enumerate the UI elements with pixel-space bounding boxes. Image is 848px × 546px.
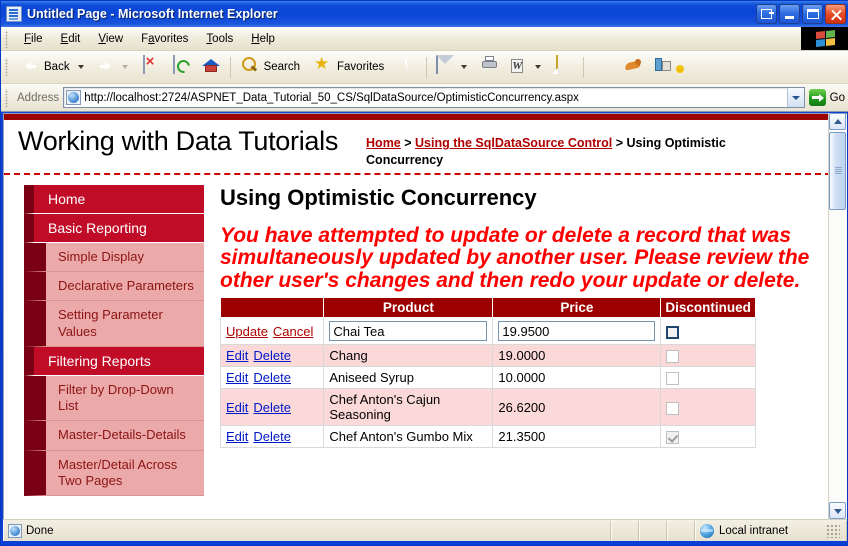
menu-bar: File Edit View Favorites Tools Help (1, 27, 848, 51)
column-header-discontinued: Discontinued (661, 298, 756, 318)
sidebar-item-filter-by-drop-down-list[interactable]: Filter by Drop-Down List (24, 376, 204, 422)
status-message-pane: Done (3, 521, 611, 541)
scroll-down-button[interactable] (829, 502, 846, 519)
menu-edit[interactable]: Edit (52, 30, 90, 48)
restore-button[interactable] (756, 4, 777, 24)
update-link[interactable]: Update (226, 324, 268, 339)
browser-toolbar: Back Search ★ Favorites (1, 51, 848, 84)
cell-product: Chef Anton's Gumbo Mix (324, 426, 493, 448)
research-button[interactable] (648, 53, 678, 81)
resize-grip[interactable] (826, 524, 840, 538)
cell-price: 10.0000 (493, 367, 661, 389)
sidebar-item-home[interactable]: Home (24, 185, 204, 214)
vertical-scrollbar[interactable] (828, 113, 845, 519)
discontinued-checkbox-readonly (666, 402, 679, 415)
page-viewport: Working with Data Tutorials Home > Using… (3, 113, 847, 519)
sidebar-item-master-details-details[interactable]: Master-Details-Details (24, 421, 204, 450)
menu-favorites[interactable]: Favorites (132, 30, 197, 48)
web-page: Working with Data Tutorials Home > Using… (4, 114, 831, 519)
status-pane-1 (611, 521, 639, 541)
firefox-button[interactable] (618, 53, 648, 81)
breadcrumb-home[interactable]: Home (366, 136, 401, 150)
discontinued-checkbox[interactable] (666, 326, 679, 339)
page-title: Using Optimistic Concurrency (220, 185, 819, 211)
discontinued-checkbox-readonly (666, 372, 679, 385)
status-pane-2 (639, 521, 667, 541)
cell-product (324, 318, 493, 345)
edit-link[interactable]: Edit (226, 370, 248, 385)
row-commands: EditDelete (221, 367, 324, 389)
address-input[interactable]: http://localhost:2724/ASPNET_Data_Tutori… (63, 87, 804, 108)
column-header-price: Price (493, 298, 661, 318)
site-title: Working with Data Tutorials (18, 126, 338, 157)
row-commands: EditDelete (221, 389, 324, 426)
print-icon (479, 56, 501, 78)
forward-dropdown-icon (122, 65, 128, 69)
edit-link[interactable]: Edit (226, 348, 248, 363)
status-pane-3 (667, 521, 695, 541)
home-icon (200, 56, 222, 78)
delete-link[interactable]: Delete (253, 348, 291, 363)
cell-discontinued (661, 367, 756, 389)
cell-price: 21.3500 (493, 426, 661, 448)
page-body: Home Basic Reporting Simple Display Decl… (4, 175, 831, 496)
breadcrumb-sep-1: > (401, 136, 415, 150)
breadcrumb: Home > Using the SqlDataSource Control >… (366, 135, 726, 169)
menu-help[interactable]: Help (242, 30, 284, 48)
cell-product: Chef Anton's Cajun Seasoning (324, 389, 493, 426)
products-gridview: Product Price Discontinued UpdateCancel (220, 297, 756, 448)
main-content: Using Optimistic Concurrency You have at… (204, 185, 831, 496)
breadcrumb-sep-2: > (612, 136, 626, 150)
sidebar-item-filtering-reports[interactable]: Filtering Reports (24, 347, 204, 376)
product-name-input[interactable] (329, 321, 487, 341)
cell-product: Chang (324, 345, 493, 367)
title-bar: Untitled Page - Microsoft Internet Explo… (1, 1, 848, 27)
table-header-row: Product Price Discontinued (221, 298, 756, 318)
cell-price: 26.6200 (493, 389, 661, 426)
forward-button (92, 53, 136, 81)
mail-button[interactable] (431, 53, 475, 81)
back-icon (19, 56, 41, 78)
history-button[interactable] (392, 53, 422, 81)
cell-product: Aniseed Syrup (324, 367, 493, 389)
globe-icon (700, 524, 714, 538)
menu-grip-handle[interactable] (4, 30, 13, 48)
table-row: EditDelete Chef Anton's Gumbo Mix 21.350… (221, 426, 756, 448)
edit-link[interactable]: Edit (226, 400, 248, 415)
history-icon (396, 56, 418, 78)
ie-page-icon (66, 90, 81, 105)
scrollbar-thumb[interactable] (829, 132, 846, 210)
cell-discontinued (661, 345, 756, 367)
back-dropdown-icon[interactable] (78, 65, 84, 69)
table-row: EditDelete Chang 19.0000 (221, 345, 756, 367)
encoding-button[interactable] (678, 53, 708, 81)
firefox-icon (622, 56, 644, 78)
table-row: EditDelete Aniseed Syrup 10.0000 (221, 367, 756, 389)
security-zone-pane[interactable]: Local intranet (695, 521, 847, 541)
window-title: Untitled Page - Microsoft Internet Explo… (27, 7, 278, 21)
edit-link[interactable]: Edit (226, 429, 248, 444)
search-icon (239, 56, 261, 78)
address-url-text: http://localhost:2724/ASPNET_Data_Tutori… (84, 92, 786, 104)
toolbar-separator-3 (583, 57, 584, 78)
research-icon (652, 56, 674, 78)
stop-button[interactable] (136, 53, 166, 81)
maximize-button[interactable] (802, 4, 823, 24)
column-header-commands (221, 298, 324, 318)
back-label: Back (44, 61, 70, 73)
row-commands: EditDelete (221, 426, 324, 448)
edit-button[interactable]: W (505, 53, 549, 81)
cell-price: 19.0000 (493, 345, 661, 367)
ie-status-icon (8, 524, 22, 538)
address-bar: Address http://localhost:2724/ASPNET_Dat… (1, 84, 848, 112)
cell-discontinued (661, 318, 756, 345)
favorites-label: Favorites (337, 61, 384, 73)
sidebar-nav: Home Basic Reporting Simple Display Decl… (4, 185, 204, 496)
scroll-up-button[interactable] (829, 113, 846, 130)
refresh-icon (170, 56, 192, 78)
toolbar-grip-handle[interactable] (4, 58, 13, 76)
messenger-button[interactable] (588, 53, 618, 81)
mail-icon (435, 56, 457, 78)
encoding-icon (682, 56, 704, 78)
table-row: UpdateCancel (221, 318, 756, 345)
chevron-down-icon[interactable] (787, 88, 804, 107)
favorites-star-icon: ★ (312, 56, 334, 78)
mail-dropdown-icon[interactable] (461, 65, 467, 69)
sidebar-item-simple-display[interactable]: Simple Display (24, 243, 204, 272)
toolbar-separator (230, 57, 231, 78)
row-commands: UpdateCancel (221, 318, 324, 345)
windows-flag-logo (801, 27, 848, 50)
sidebar-item-master-detail-across-two-pages[interactable]: Master/Detail Across Two Pages (24, 451, 204, 497)
edit-word-icon: W (509, 56, 531, 78)
address-label: Address (17, 92, 59, 104)
address-grip-handle[interactable] (4, 89, 13, 107)
page-header: Working with Data Tutorials Home > Using… (4, 120, 831, 175)
menu-file[interactable]: File (15, 30, 52, 48)
toolbar-separator-2 (426, 57, 427, 78)
concurrency-warning-message: You have attempted to update or delete a… (220, 225, 819, 292)
window-controls (756, 4, 846, 24)
print-button[interactable] (475, 53, 505, 81)
breadcrumb-section[interactable]: Using the SqlDataSource Control (415, 136, 612, 150)
sidebar-item-setting-parameter-values[interactable]: Setting Parameter Values (24, 301, 204, 347)
stop-icon (140, 56, 162, 78)
back-button[interactable]: Back (15, 53, 92, 81)
sidebar-item-basic-reporting[interactable]: Basic Reporting (24, 214, 204, 243)
delete-link[interactable]: Delete (253, 429, 291, 444)
price-input[interactable] (498, 321, 655, 341)
menu-view[interactable]: View (89, 30, 132, 48)
notes-button[interactable] (549, 53, 579, 81)
security-zone-text: Local intranet (719, 525, 788, 537)
forward-icon (96, 56, 118, 78)
delete-link[interactable]: Delete (253, 370, 291, 385)
refresh-button[interactable] (166, 53, 196, 81)
cell-discontinued (661, 426, 756, 448)
page-icon (6, 6, 22, 22)
table-row: EditDelete Chef Anton's Cajun Seasoning … (221, 389, 756, 426)
cell-discontinued (661, 389, 756, 426)
cell-price (493, 318, 661, 345)
column-header-product: Product (324, 298, 493, 318)
scrollbar-track[interactable] (829, 130, 845, 502)
minimize-button[interactable] (779, 4, 800, 24)
go-button[interactable]: Go (807, 87, 848, 109)
search-button[interactable]: Search (235, 53, 308, 81)
go-arrow-icon (809, 89, 826, 106)
edit-dropdown-icon[interactable] (535, 65, 541, 69)
home-button[interactable] (196, 53, 226, 81)
status-bar: Done Local intranet (3, 519, 847, 541)
sidebar-item-declarative-parameters[interactable]: Declarative Parameters (24, 272, 204, 301)
status-text: Done (26, 525, 54, 537)
delete-link[interactable]: Delete (253, 400, 291, 415)
messenger-globe-icon (592, 56, 614, 78)
discontinued-checkbox-readonly (666, 431, 679, 444)
go-label: Go (830, 92, 845, 104)
row-commands: EditDelete (221, 345, 324, 367)
cancel-link[interactable]: Cancel (273, 324, 313, 339)
notes-icon (553, 56, 575, 78)
search-label: Search (264, 61, 300, 73)
discontinued-checkbox-readonly (666, 350, 679, 363)
favorites-button[interactable]: ★ Favorites (308, 53, 392, 81)
close-button[interactable] (825, 4, 846, 24)
ie-browser-window: Untitled Page - Microsoft Internet Explo… (0, 0, 848, 546)
menu-tools[interactable]: Tools (197, 30, 242, 48)
